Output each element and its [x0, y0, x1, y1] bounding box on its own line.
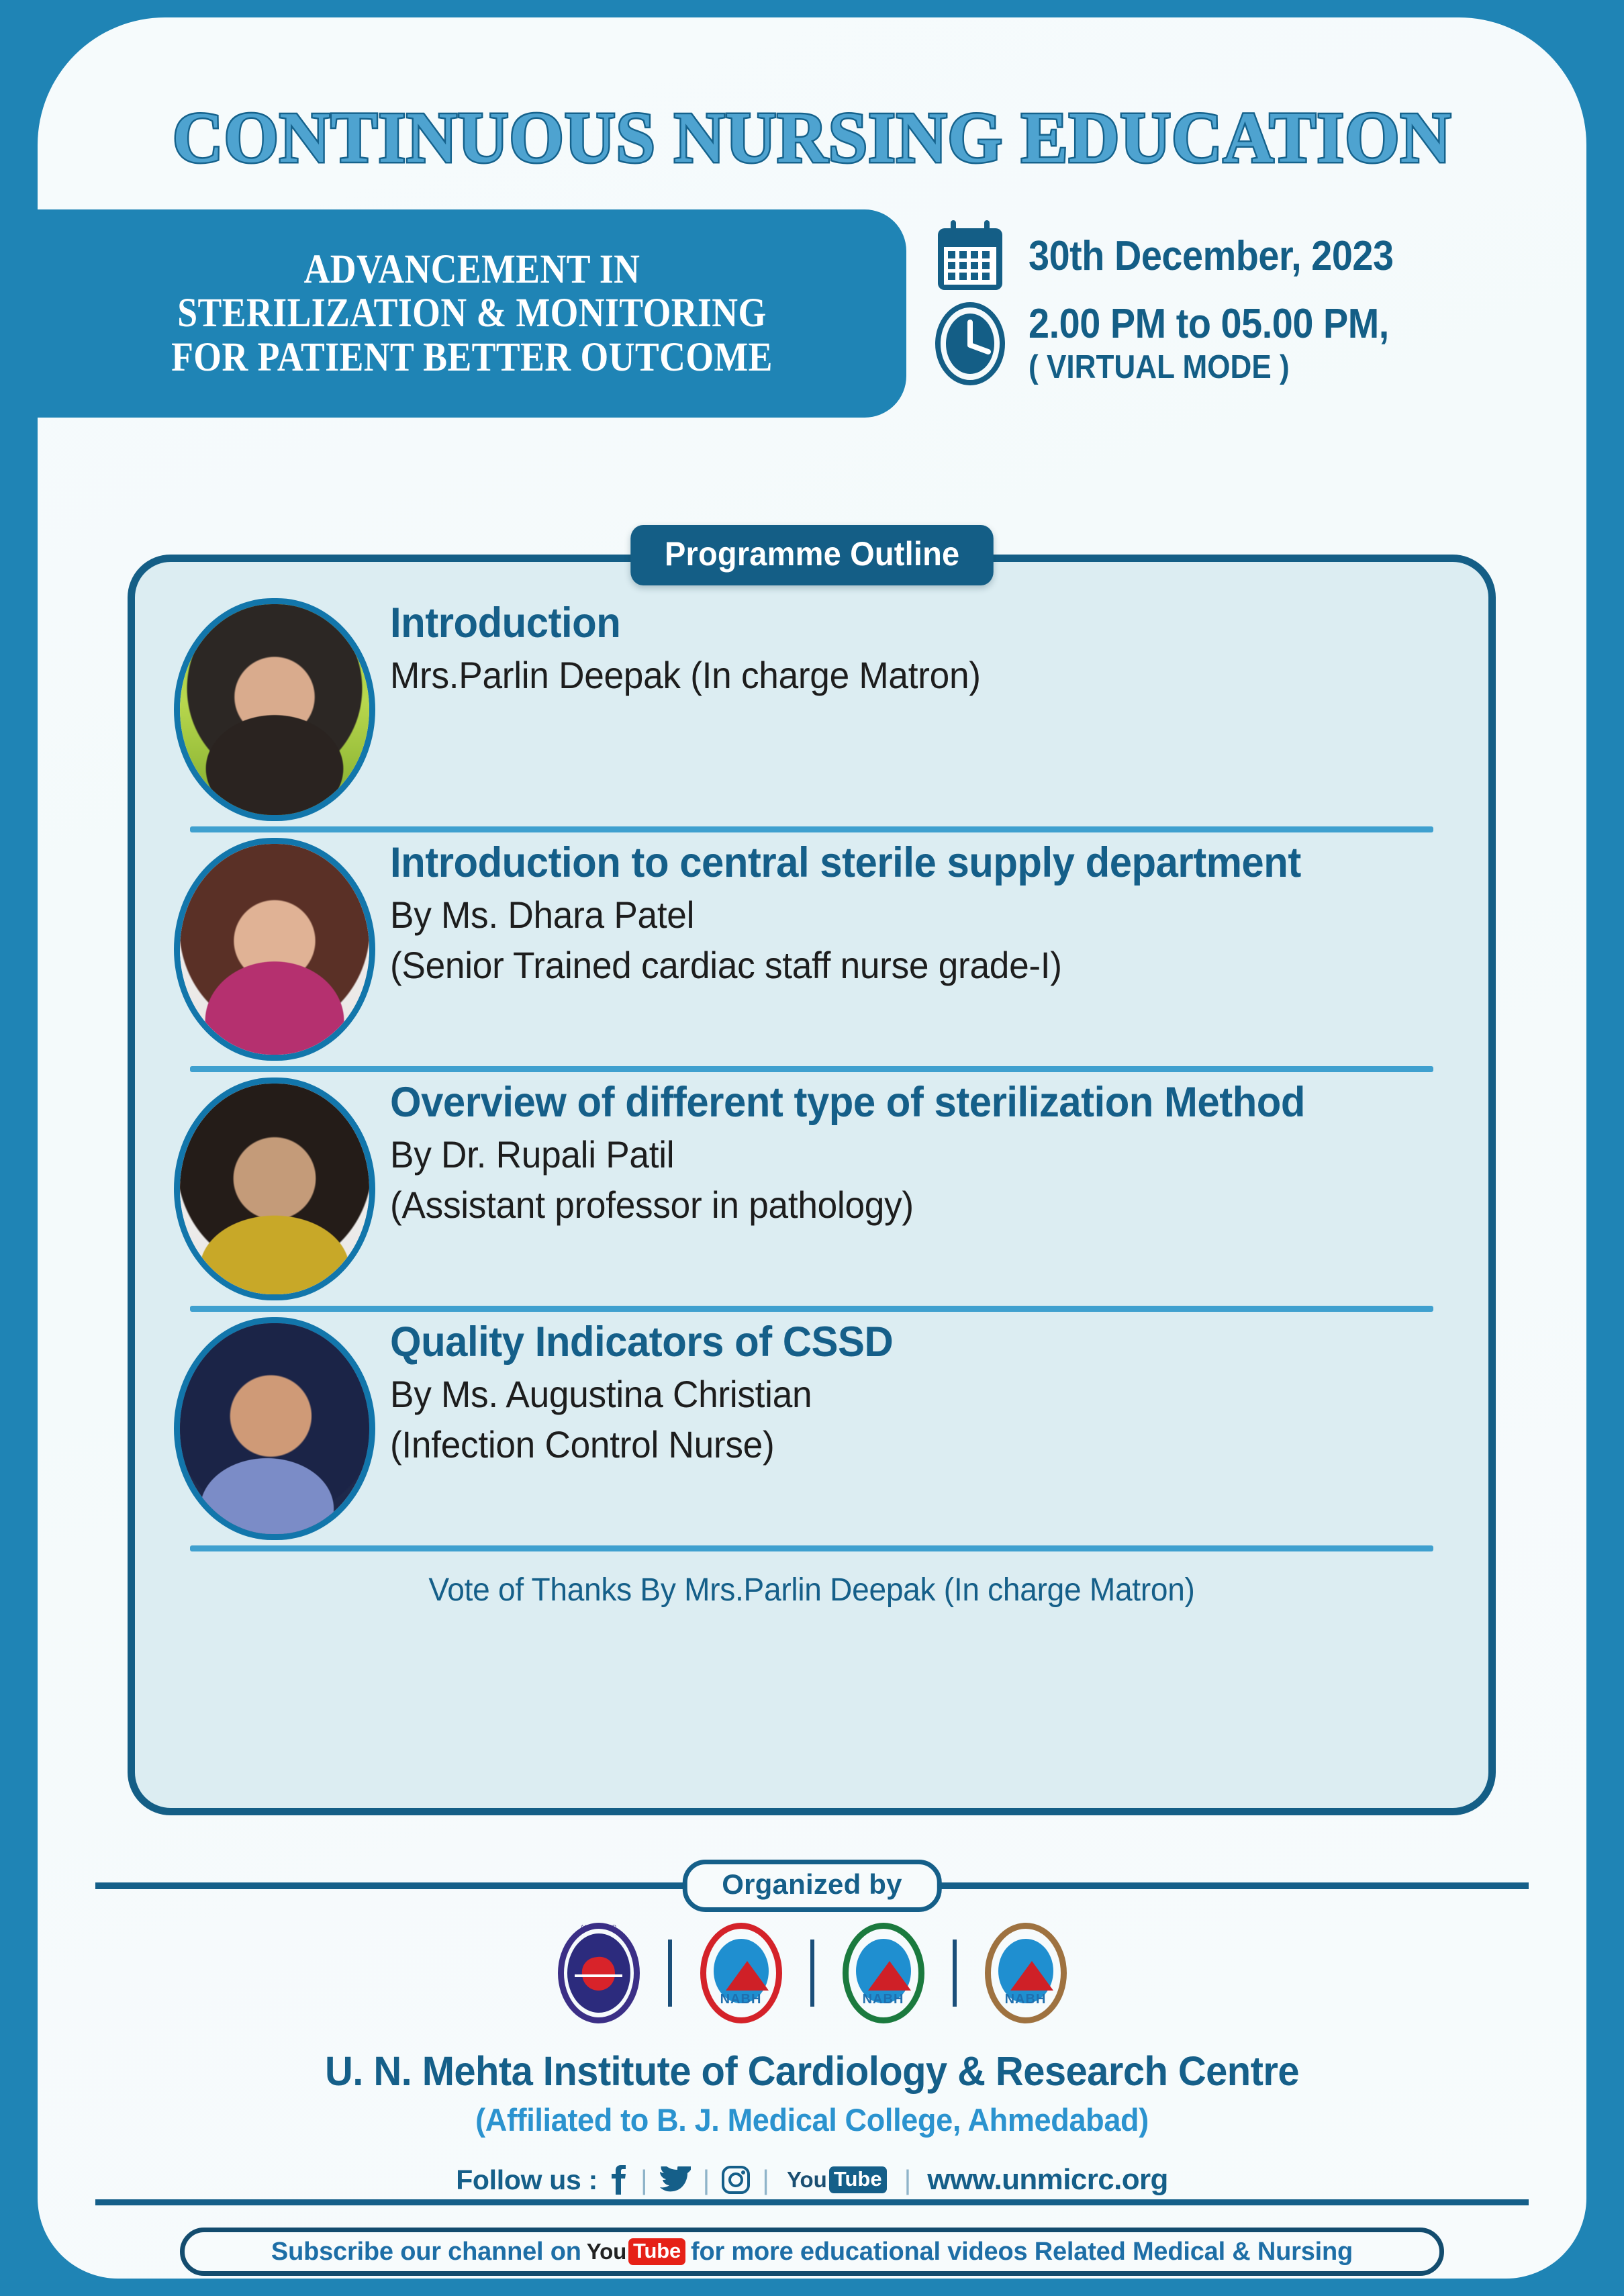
session-title: Quality Indicators of CSSD: [390, 1319, 1408, 1366]
logo-label: NABH: [700, 1992, 782, 2007]
poster-sheet: CONTINUOUS NURSING EDUCATION ADVANCEMENT…: [38, 17, 1586, 2279]
session-credential: (Infection Control Nurse): [390, 1422, 1408, 1467]
un-mehta-institute-logo: AHMEDABAD: [558, 1923, 640, 2023]
nabh-certified-nursing-services-logo: NABH: [843, 1923, 924, 2023]
session-credential: (Assistant professor in pathology): [390, 1182, 1408, 1227]
session-credential: (Senior Trained cardiac staff nurse grad…: [390, 943, 1408, 988]
session-speaker: By Ms. Augustina Christian: [390, 1372, 1408, 1417]
session-text: Overview of different type of sterilizat…: [390, 1072, 1462, 1227]
list-item: Introduction to central sterile supply d…: [162, 832, 1462, 1066]
youtube-you-text: You: [787, 2167, 827, 2193]
logo-row: AHMEDABAD NABH NABH NABH: [38, 1923, 1586, 2023]
logo-separator: [810, 1940, 814, 2007]
subscribe-banner[interactable]: Subscribe our channel on You Tube for mo…: [180, 2228, 1444, 2276]
avatar: [174, 598, 375, 821]
programme-outline-badge: Programme Outline: [630, 525, 994, 585]
logo-separator: [953, 1940, 957, 2007]
subscribe-post-text: for more educational videos Related Medi…: [691, 2238, 1353, 2266]
institute-name: U. N. Mehta Institute of Cardiology & Re…: [77, 2048, 1548, 2095]
avatar: [174, 1317, 375, 1540]
avatar: [174, 1078, 375, 1300]
event-subtitle: ADVANCEMENT IN STERILIZATION & MONITORIN…: [156, 248, 788, 379]
divider: [190, 826, 1433, 832]
nabh-accredited-logo: NABH: [700, 1923, 782, 2023]
session-title: Introduction: [390, 600, 1408, 647]
programme-badge-row: Programme Outline: [38, 525, 1586, 585]
nabh-certified-emergency-services-logo: NABH: [985, 1923, 1067, 2023]
speaker-photo-rupali-patil: [180, 1084, 369, 1294]
event-time-row: 2.00 PM to 05.00 PM, ( VIRTUAL MODE ): [930, 302, 1586, 385]
divider: [190, 1066, 1433, 1072]
facebook-icon[interactable]: [608, 2165, 628, 2195]
youtube-icon[interactable]: You Tube: [587, 2238, 685, 2265]
page-title: CONTINUOUS NURSING EDUCATION: [61, 97, 1564, 180]
follow-us-row: Follow us : | | | You Tube | www.unmicrc…: [38, 2163, 1586, 2197]
event-mode: ( VIRTUAL MODE ): [1029, 350, 1389, 385]
poster-root: CONTINUOUS NURSING EDUCATION ADVANCEMENT…: [0, 0, 1624, 2296]
event-time: 2.00 PM to 05.00 PM, ( VIRTUAL MODE ): [1029, 302, 1389, 385]
logo-label: NABH: [843, 1992, 924, 2007]
avatar: [174, 838, 375, 1061]
programme-outline-card: Introduction Mrs.Parlin Deepak (In charg…: [128, 555, 1496, 1815]
session-title: Overview of different type of sterilizat…: [390, 1079, 1408, 1127]
event-date: 30th December, 2023: [1029, 234, 1394, 279]
youtube-tube-text: Tube: [829, 2166, 887, 2193]
twitter-icon[interactable]: [660, 2166, 691, 2193]
session-text: Quality Indicators of CSSD By Ms. August…: [390, 1312, 1462, 1467]
subtitle-band: ADVANCEMENT IN STERILIZATION & MONITORIN…: [38, 209, 906, 418]
speaker-photo-augustina-christian: [180, 1323, 369, 1534]
subtitle-line-3: FOR PATIENT BETTER OUTCOME: [171, 336, 773, 379]
separator: |: [640, 2164, 648, 2196]
list-item: Overview of different type of sterilizat…: [162, 1072, 1462, 1306]
organized-by-badge: Organized by: [682, 1860, 941, 1912]
logo-separator: [668, 1940, 672, 2007]
session-text: Introduction to central sterile supply d…: [390, 832, 1462, 988]
vote-of-thanks: Vote of Thanks By Mrs.Parlin Deepak (In …: [188, 1551, 1436, 1613]
subtitle-line-1: ADVANCEMENT IN: [171, 248, 773, 291]
clock-icon: [930, 302, 1010, 385]
subtitle-line-2: STERILIZATION & MONITORING: [171, 291, 773, 335]
separator: |: [904, 2164, 912, 2196]
institute-affiliation: (Affiliated to B. J. Medical College, Ah…: [68, 2101, 1556, 2138]
list-item: Introduction Mrs.Parlin Deepak (In charg…: [162, 593, 1462, 826]
divider: [95, 2199, 1529, 2205]
divider: [190, 1306, 1433, 1312]
speaker-photo-parlin-deepak: [180, 604, 369, 815]
speaker-photo-dhara-patel: [180, 844, 369, 1055]
logo-label: NABH: [985, 1992, 1067, 2007]
session-speaker: By Dr. Rupali Patil: [390, 1132, 1408, 1177]
website-url[interactable]: www.unmicrc.org: [927, 2163, 1168, 2197]
session-speaker: Mrs.Parlin Deepak (In charge Matron): [390, 653, 1408, 698]
youtube-tube-text: Tube: [628, 2238, 685, 2265]
event-date-row: 30th December, 2023: [930, 219, 1586, 294]
session-speaker: By Ms. Dhara Patel: [390, 892, 1408, 937]
subscribe-pre-text: Subscribe our channel on: [271, 2238, 581, 2266]
logo-ring-text: AHMEDABAD: [558, 1924, 640, 1930]
instagram-icon[interactable]: [722, 2166, 750, 2194]
calendar-icon: [930, 219, 1010, 294]
session-text: Introduction Mrs.Parlin Deepak (In charg…: [390, 593, 1462, 698]
event-when-block: 30th December, 2023 2.00 PM to 05.00 PM,…: [930, 219, 1586, 420]
youtube-icon[interactable]: You Tube: [787, 2166, 887, 2193]
session-title: Introduction to central sterile supply d…: [390, 839, 1408, 887]
follow-us-label: Follow us :: [456, 2164, 598, 2196]
organized-by-divider: Organized by: [95, 1860, 1529, 1907]
youtube-you-text: You: [587, 2239, 626, 2264]
divider: [190, 1545, 1433, 1551]
event-time-text: 2.00 PM to 05.00 PM,: [1029, 301, 1389, 347]
separator: |: [762, 2164, 769, 2196]
list-item: Quality Indicators of CSSD By Ms. August…: [162, 1312, 1462, 1545]
separator: |: [703, 2164, 710, 2196]
